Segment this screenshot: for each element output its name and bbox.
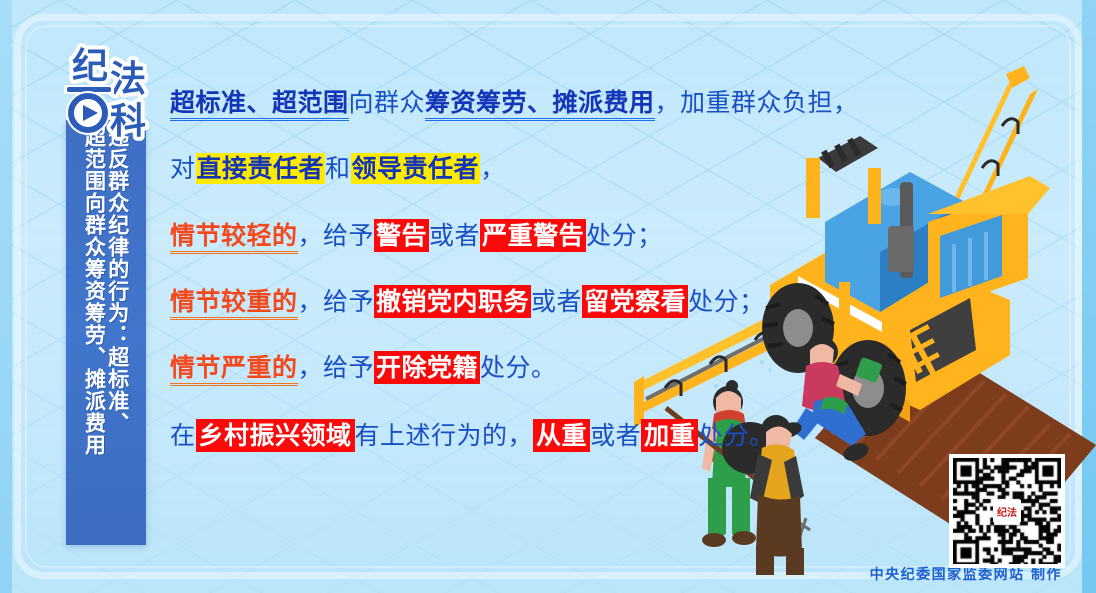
line-6-token-6: 处分。 — [698, 421, 775, 450]
line-3-token-0: 情节较轻的 — [170, 221, 298, 254]
line-4-token-4: 留党察看 — [582, 285, 688, 318]
line-5-token-0: 情节严重的 — [170, 353, 298, 386]
logo-char-fa-fill: 法 — [110, 59, 146, 100]
line-4-token-5: 处分； — [688, 287, 765, 316]
line-3-token-2: 警告 — [374, 219, 429, 252]
vertical-title-banner: 违反群众纪律的行为：超标准、 超范围向群众筹资筹劳、摊派费用 — [66, 120, 146, 545]
jifa-kepu-logo: 纪 纪 法 法 科 科 — [52, 33, 174, 145]
line-6-token-2: 有上述行为的， — [355, 421, 534, 450]
line-6: 在乡村振兴领域有上述行为的，从重或者加重处分。 — [170, 417, 810, 455]
line-1-token-0: 超标准、超范围 — [170, 88, 349, 121]
line-6-token-3: 从重 — [533, 419, 590, 452]
line-2-token-2: 和 — [325, 154, 351, 183]
line-3-token-3: 或者 — [429, 221, 480, 250]
line-4-token-2: 撤销党内职务 — [374, 285, 531, 318]
line-2-token-1: 直接责任者 — [196, 153, 326, 184]
qr-center-logo: 纪法 — [993, 500, 1021, 522]
poster-root: 纪 纪 法 法 科 科 违反群众纪律的行为：超标准、 超范围向群众筹资筹劳、摊派… — [0, 0, 1096, 593]
line-1-token-3: ，加重群众负担， — [655, 88, 859, 117]
logo-char-ke-fill: 科 — [110, 101, 146, 142]
line-3: 情节较轻的，给予警告或者严重警告处分； — [170, 217, 810, 255]
line-4-token-0: 情节较重的 — [170, 287, 298, 320]
line-1-token-2: 筹资筹劳、摊派费用 — [425, 88, 655, 121]
line-6-token-5: 加重 — [641, 419, 698, 452]
banner-column-right: 违反群众纪律的行为：超标准、 — [107, 120, 129, 545]
line-2-token-3: 领导责任者 — [351, 153, 481, 184]
body-text-block: 超标准、超范围向群众筹资筹劳、摊派费用，加重群众负担，对直接责任者和领导责任者，… — [170, 84, 810, 480]
line-4-token-1: ，给予 — [298, 287, 375, 316]
line-2-token-0: 对 — [170, 154, 196, 183]
logo-char-ji-fill: 纪 — [72, 46, 108, 87]
line-2-token-4: ， — [480, 154, 506, 183]
line-6-token-1: 乡村振兴领域 — [196, 419, 355, 452]
line-3-token-4: 严重警告 — [480, 219, 586, 252]
line-5-token-1: ，给予 — [298, 353, 375, 382]
line-1-token-1: 向群众 — [349, 88, 426, 117]
line-5: 情节严重的，给予开除党籍处分。 — [170, 349, 810, 387]
banner-column-left: 超范围向群众筹资筹劳、摊派费用 — [83, 120, 105, 545]
qr-code[interactable]: 纪法 — [949, 454, 1065, 568]
left-edge-band — [0, 0, 12, 593]
line-1: 超标准、超范围向群众筹资筹劳、摊派费用，加重群众负担， — [170, 84, 810, 122]
line-6-token-4: 或者 — [590, 421, 641, 450]
line-6-token-0: 在 — [170, 421, 196, 450]
line-2: 对直接责任者和领导责任者， — [170, 150, 810, 188]
line-3-token-5: 处分； — [586, 221, 663, 250]
line-5-token-3: 处分。 — [480, 353, 557, 382]
line-4-token-3: 或者 — [531, 287, 582, 316]
line-3-token-1: ，给予 — [298, 221, 375, 250]
line-5-token-2: 开除党籍 — [374, 351, 480, 384]
line-4: 情节较重的，给予撤销党内职务或者留党察看处分； — [170, 283, 810, 321]
